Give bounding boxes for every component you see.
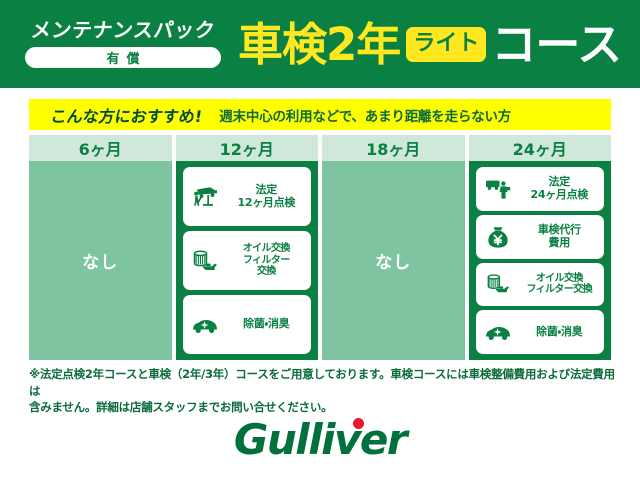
column-body-6months: なし — [29, 161, 172, 360]
column-body-18months: なし — [322, 161, 465, 360]
column-header-6months: 6ヶ月 — [29, 135, 172, 161]
poster-root: メンテナンスパック 有償 車検2年 ライト コース こんな方におすすめ! 週末中… — [0, 0, 640, 480]
column-header-12months: 12ヶ月 — [176, 135, 319, 161]
brand-logo: Gulliver — [0, 412, 640, 468]
service-card-oil-filter-change-12[interactable]: オイル交換 フィルター 交換 — [183, 231, 312, 290]
car-sparkle-icon — [188, 315, 222, 335]
none-label-6months: なし — [82, 248, 118, 273]
column-body-24months: 法定 24ヶ月点検 車検代行 — [469, 161, 612, 360]
header-main-title: 車検2年 — [238, 22, 400, 67]
service-card-label: 法定 12ヶ月点検 — [227, 184, 307, 210]
car-on-lift-icon — [188, 184, 222, 210]
service-card-label: オイル交換 フィルター 交換 — [227, 243, 307, 278]
paid-badge: 有償 — [25, 47, 221, 68]
oil-filter-can-icon — [188, 248, 222, 274]
brand-logo-label: Gulliver — [234, 415, 406, 464]
logo-red-dot-icon — [353, 418, 364, 429]
service-card-label: 除菌・消臭 — [227, 318, 307, 331]
oil-filter-can-icon — [481, 272, 515, 296]
maintenance-pack-title: メンテナンスパック — [30, 20, 216, 40]
none-label-18months: なし — [375, 248, 411, 273]
plan-column-12months: 12ヶ月 法定 — [176, 135, 319, 360]
car-inspector-icon — [481, 177, 515, 201]
brand-logo-text: Gulliver — [234, 419, 406, 461]
column-header-24months: 24ヶ月 — [469, 135, 612, 161]
recommendation-description: 週末中心の利用などで、あまり距離を走らない方 — [219, 105, 511, 125]
footnote-line-1: ※法定点検2年コースと車検（2年/3年）コースをご用意しております。車検コースに… — [29, 366, 619, 399]
service-card-label: 車検代行 費用 — [520, 224, 600, 250]
plan-table: 6ヶ月 なし 12ヶ月 — [29, 135, 611, 360]
service-card-label: 法定 24ヶ月点検 — [520, 176, 600, 202]
maintenance-pack-block: メンテナンスパック 有償 — [14, 20, 232, 68]
column-body-12months: 法定 12ヶ月点検 オイ — [176, 161, 319, 360]
recommendation-heading: こんな方におすすめ! — [49, 103, 204, 127]
column-header-18months: 18ヶ月 — [322, 135, 465, 161]
recommendation-banner: こんな方におすすめ! 週末中心の利用などで、あまり距離を走らない方 — [29, 99, 611, 130]
plan-column-24months: 24ヶ月 法定 24 — [469, 135, 612, 360]
light-course-badge: ライト — [406, 27, 486, 62]
service-card-sanitize-deodorize-24[interactable]: 除菌・消臭 — [476, 310, 605, 354]
header-banner: メンテナンスパック 有償 車検2年 ライト コース — [0, 0, 640, 88]
plan-column-18months: 18ヶ月 なし — [322, 135, 465, 360]
service-card-legal-12month-inspection[interactable]: 法定 12ヶ月点検 — [183, 167, 312, 226]
service-card-oil-filter-change-24[interactable]: オイル交換 フィルター交換 — [476, 263, 605, 307]
car-sparkle-icon — [481, 322, 515, 342]
money-bag-yen-icon — [481, 225, 515, 249]
service-card-label: 除菌・消臭 — [520, 326, 600, 339]
service-card-legal-24month-inspection[interactable]: 法定 24ヶ月点検 — [476, 167, 605, 211]
service-card-sanitize-deodorize-12[interactable]: 除菌・消臭 — [183, 295, 312, 354]
header-title-block: 車検2年 ライト コース — [238, 0, 640, 88]
plan-column-6months: 6ヶ月 なし — [29, 135, 172, 360]
footnote: ※法定点検2年コースと車検（2年/3年）コースをご用意しております。車検コースに… — [29, 366, 619, 416]
service-card-inspection-agency-fee[interactable]: 車検代行 費用 — [476, 215, 605, 259]
header-course-label: コース — [491, 22, 621, 67]
service-card-label: オイル交換 フィルター交換 — [520, 273, 600, 297]
